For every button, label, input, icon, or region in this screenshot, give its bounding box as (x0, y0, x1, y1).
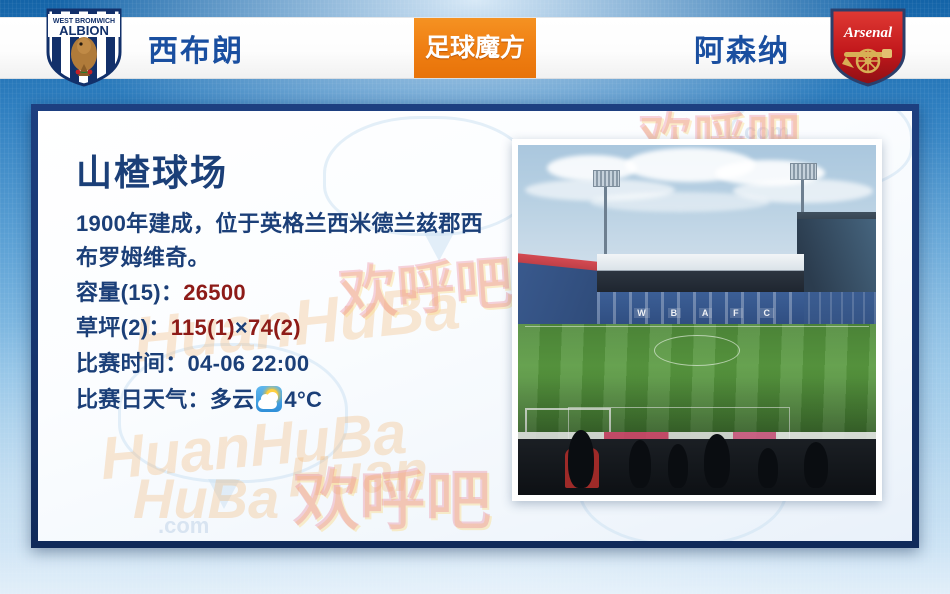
pitch-label: 草坪(2)： (76, 315, 171, 340)
photo-pitch (518, 324, 876, 443)
stand-letter: W (634, 308, 650, 318)
partly-cloudy-icon (256, 386, 282, 412)
photo-spectator (758, 448, 778, 488)
watermark-cn: 欢呼吧 (293, 447, 491, 541)
capacity-label: 容量(15)： (76, 280, 183, 305)
pitch-width: 74(2) (248, 315, 301, 340)
badge-away-text: Arsenal (843, 25, 893, 41)
pitch-line (525, 326, 869, 327)
stand-letter: F (730, 308, 743, 318)
content-frame: HuanHuBa 欢呼吧 HuanHuBa Huan HuBa 欢呼吧 .com… (31, 104, 919, 548)
capacity-value: 26500 (183, 280, 246, 305)
photo-spectator (804, 442, 828, 488)
pitch-length: 115(1) (171, 315, 235, 340)
weather-condition: 多云 (210, 387, 255, 412)
cloud-icon (258, 399, 277, 409)
match-time-label: 比赛时间： (76, 351, 188, 376)
stand-letter: C (760, 308, 774, 318)
capacity-row: 容量(15)：26500 (76, 275, 496, 311)
floodlight-icon (604, 184, 607, 256)
photo-main-stand-roof (597, 254, 805, 272)
away-team-badge[interactable]: Arsenal (822, 6, 914, 88)
stadium-description: 1900年建成，位于英格兰西米德兰兹郡西布罗姆维奇。 (76, 207, 496, 275)
weather-label: 比赛日天气： (76, 387, 210, 412)
weather-temperature: 4°C (284, 387, 322, 412)
stadium-photo: W B A F C (518, 145, 876, 495)
watermark-bubble-tail (208, 479, 240, 509)
watermark-en-alt: Huan (286, 437, 429, 509)
stand-letter: A (699, 308, 713, 318)
photo-spectator (629, 440, 651, 488)
match-header: WEST BROMWICH ALBION 西布朗 足球魔方 阿森纳 Arsena… (0, 0, 950, 95)
match-time-value: 04-06 22:00 (188, 351, 310, 376)
site-logo[interactable]: 足球魔方 (414, 18, 536, 78)
weather-row: 比赛日天气：多云 4°C (76, 382, 496, 418)
photo-spectator (668, 444, 688, 488)
stadium-photo-card[interactable]: W B A F C (512, 139, 882, 501)
stand-letter: B (668, 308, 682, 318)
home-team-badge[interactable]: WEST BROMWICH ALBION (38, 6, 130, 88)
site-logo-text: 足球魔方 (425, 36, 525, 61)
photo-cloud (547, 155, 637, 181)
stadium-info: 山楂球场 1900年建成，位于英格兰西米德兰兹郡西布罗姆维奇。 容量(15)：2… (76, 153, 496, 417)
background-bottom-glow (0, 546, 950, 594)
watermark-en-alt2: HuBa (133, 466, 279, 531)
badge-home-line2: ALBION (59, 23, 109, 38)
away-team-name: 阿森纳 (694, 26, 790, 70)
photo-main-stand-shade (597, 271, 805, 292)
photo-cloud (590, 192, 770, 212)
photo-spectator (704, 434, 730, 488)
content-panel: HuanHuBa 欢呼吧 HuanHuBa Huan HuBa 欢呼吧 .com… (38, 111, 912, 541)
photo-stand-lettering: W B A F C (625, 303, 783, 324)
pitch-size-row: 草坪(2)：115(1)×74(2) (76, 310, 496, 346)
stadium-title: 山楂球场 (76, 153, 496, 193)
photo-spectator (568, 430, 594, 488)
match-time-row: 比赛时间：04-06 22:00 (76, 346, 496, 382)
watermark-com: .com (158, 513, 209, 539)
pitch-center-circle (654, 335, 740, 366)
home-team-name: 西布朗 (148, 26, 244, 70)
pitch-separator: × (235, 315, 248, 340)
